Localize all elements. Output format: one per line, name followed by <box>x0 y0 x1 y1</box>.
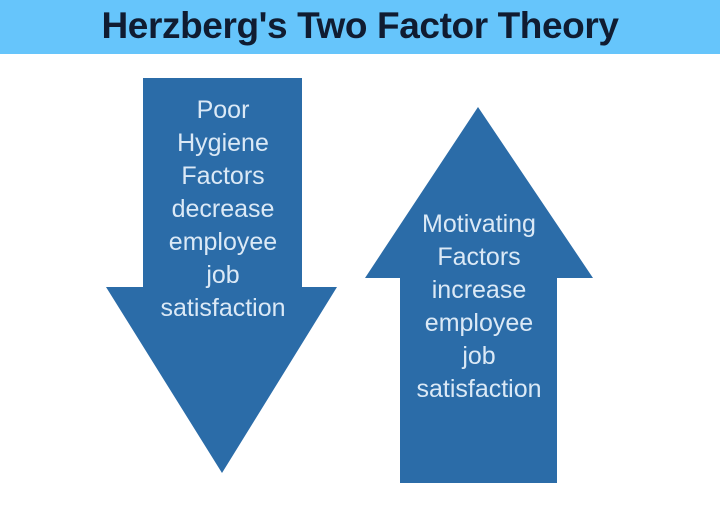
slide-canvas: Herzberg's Two Factor Theory Poor Hygien… <box>0 0 720 510</box>
page-title: Herzberg's Two Factor Theory <box>0 0 720 54</box>
down-arrow-icon <box>100 72 345 482</box>
up-arrow-icon <box>360 102 600 492</box>
